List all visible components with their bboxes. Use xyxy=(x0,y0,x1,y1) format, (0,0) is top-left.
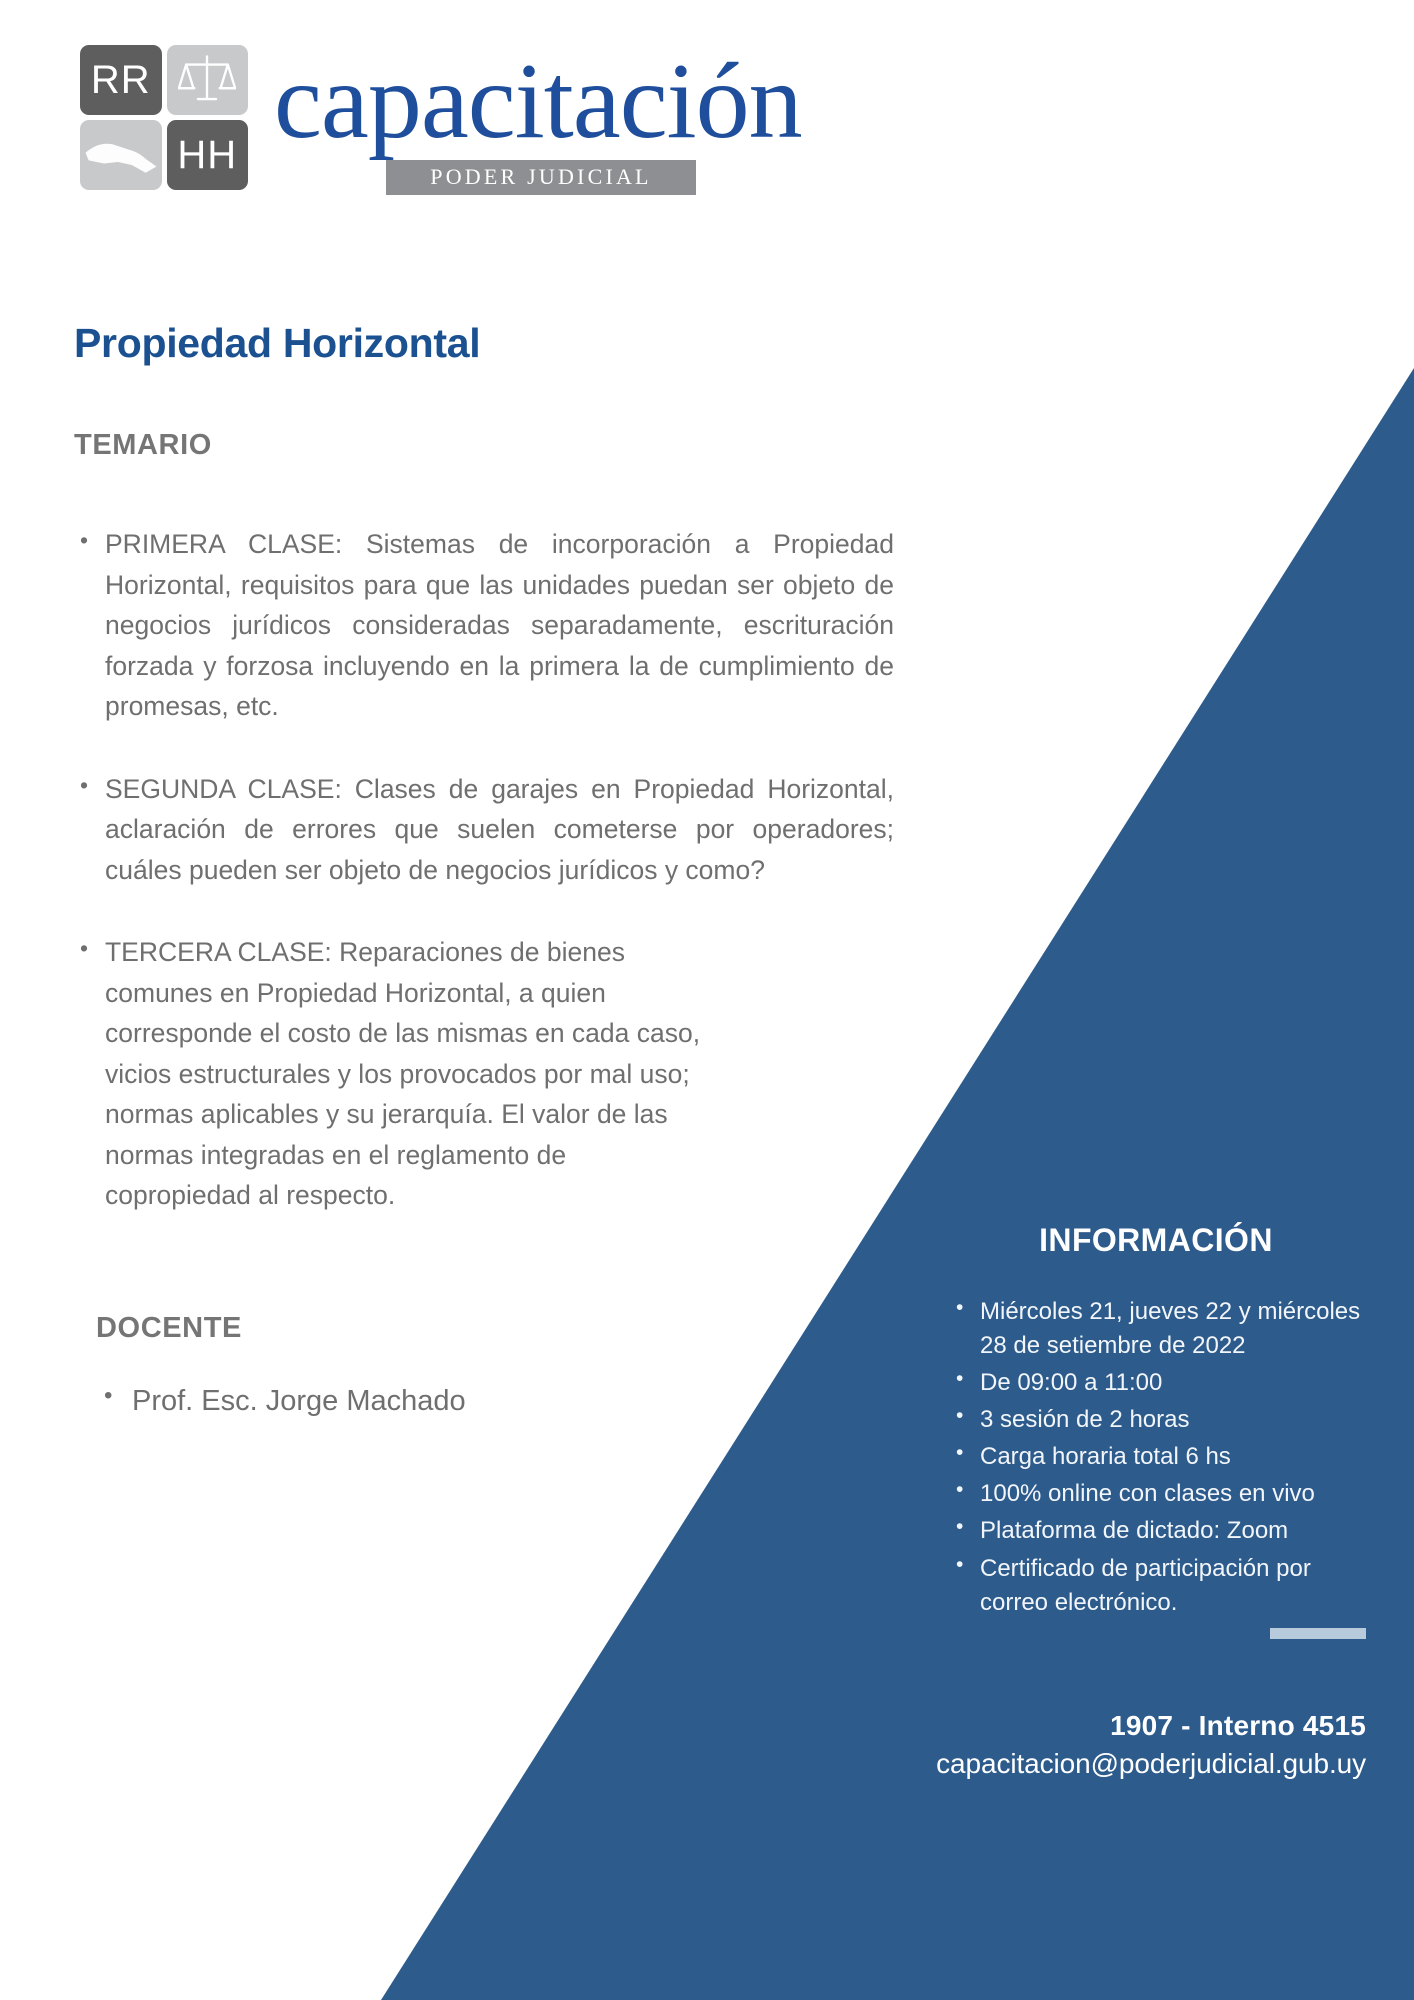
list-item: Plataforma de dictado: Zoom xyxy=(946,1514,1366,1548)
list-item: 3 sesión de 2 horas xyxy=(946,1403,1366,1437)
logo-cell-rr: RR xyxy=(80,45,162,115)
divider xyxy=(1270,1628,1366,1639)
list-item: Certificado de participación por correo … xyxy=(946,1552,1366,1620)
capacitacion-wordmark-group: capacitación PODER JUDICIAL xyxy=(274,45,802,195)
logo-hh-label: HH xyxy=(177,135,237,175)
list-item: PRIMERA CLASE: Sistemas de incorporación… xyxy=(74,524,894,727)
poder-judicial-bar: PODER JUDICIAL xyxy=(386,160,696,195)
handshake-icon xyxy=(80,120,162,190)
temario-list: PRIMERA CLASE: Sistemas de incorporación… xyxy=(74,524,894,1216)
contact-footer: 1907 - Interno 4515 capacitacion@poderju… xyxy=(666,1710,1366,1780)
list-item: Carga horaria total 6 hs xyxy=(946,1440,1366,1474)
list-item: De 09:00 a 11:00 xyxy=(946,1366,1366,1400)
capacitacion-wordmark: capacitación xyxy=(274,51,802,154)
contact-email[interactable]: capacitacion@poderjudicial.gub.uy xyxy=(666,1748,1366,1780)
page-title: Propiedad Horizontal xyxy=(74,320,894,367)
docente-heading: DOCENTE xyxy=(96,1312,894,1345)
docente-section: DOCENTE Prof. Esc. Jorge Machado xyxy=(96,1312,894,1422)
scales-of-justice-icon xyxy=(167,45,249,115)
list-item: Miércoles 21, jueves 22 y miércoles 28 d… xyxy=(946,1295,1366,1363)
list-item: SEGUNDA CLASE: Clases de garajes en Prop… xyxy=(74,769,894,891)
list-item: 100% online con clases en vivo xyxy=(946,1477,1366,1511)
main-content: Propiedad Horizontal TEMARIO PRIMERA CLA… xyxy=(74,320,894,1422)
header: RR HH capacitaci xyxy=(80,45,802,195)
informacion-section: INFORMACIÓN Miércoles 21, jueves 22 y mi… xyxy=(946,1222,1366,1623)
logo-rr-label: RR xyxy=(91,60,151,100)
poder-judicial-label: PODER JUDICIAL xyxy=(430,164,651,190)
logo-cell-hh: HH xyxy=(167,120,249,190)
informacion-heading: INFORMACIÓN xyxy=(946,1222,1366,1259)
informacion-list: Miércoles 21, jueves 22 y miércoles 28 d… xyxy=(946,1295,1366,1620)
list-item: TERCERA CLASE: Reparaciones de bienes co… xyxy=(74,932,714,1216)
temario-heading: TEMARIO xyxy=(74,429,894,462)
list-item: Prof. Esc. Jorge Machado xyxy=(96,1381,894,1422)
contact-phone: 1907 - Interno 4515 xyxy=(666,1710,1366,1742)
rrhh-logo: RR HH xyxy=(80,45,248,190)
docente-list: Prof. Esc. Jorge Machado xyxy=(96,1381,894,1422)
